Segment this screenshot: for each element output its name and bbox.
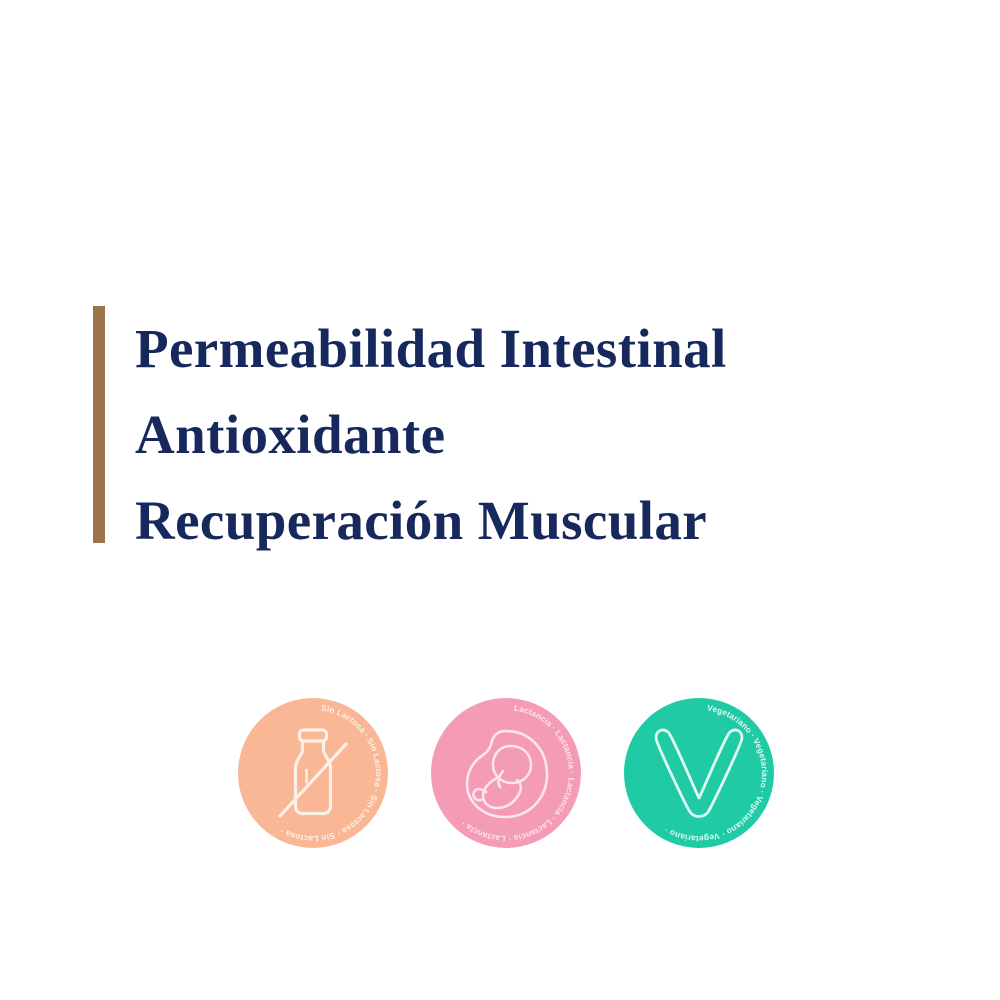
headline-text-group: Permeabilidad Intestinal Antioxidante Re…	[105, 306, 727, 564]
certification-badges-row: Sin Lactosa · Sin Lactosa · Sin Lactosa …	[238, 697, 774, 849]
accent-bar	[93, 306, 105, 543]
headline-line-2: Antioxidante	[135, 392, 727, 478]
promo-card: Permeabilidad Intestinal Antioxidante Re…	[0, 0, 1000, 1000]
badge-breastfeeding: Lactancia · Lactancia · Lactancia · Lact…	[431, 698, 581, 848]
badge-lactose-free: Sin Lactosa · Sin Lactosa · Sin Lactosa …	[238, 698, 388, 848]
milk-bottle-crossed-icon	[238, 698, 388, 848]
baby-fetus-icon	[431, 698, 581, 848]
letter-v-vegetarian-icon	[624, 698, 774, 848]
headline-line-1: Permeabilidad Intestinal	[135, 306, 727, 392]
headline-line-3: Recuperación Muscular	[135, 478, 727, 564]
headline-block: Permeabilidad Intestinal Antioxidante Re…	[93, 306, 923, 564]
badge-vegetarian: Vegetariano · Vegetariano · Vegetariano …	[624, 698, 774, 848]
